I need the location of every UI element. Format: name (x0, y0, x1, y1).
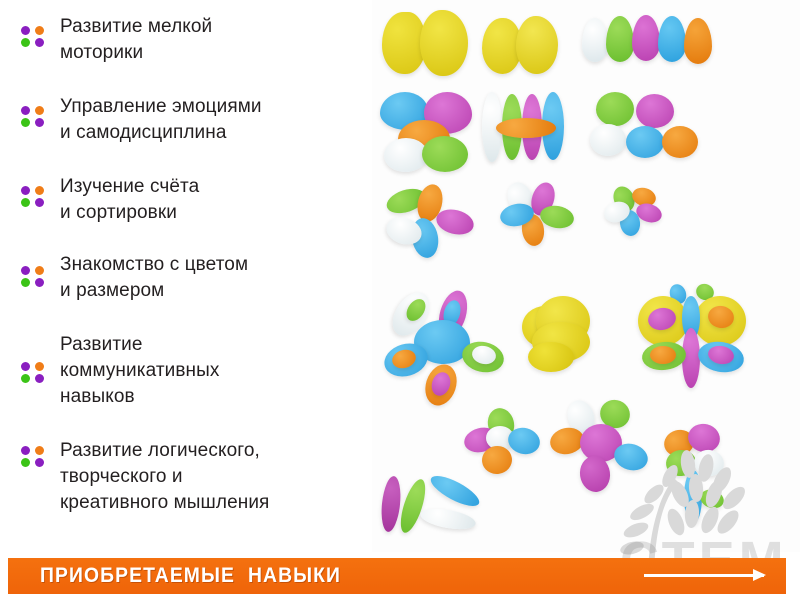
list-item: Развитие коммуникативных навыков (0, 332, 219, 410)
dot-orange-icon (35, 26, 44, 35)
stone-orange (662, 126, 698, 158)
bullet-dots-icon (18, 24, 48, 48)
arrow-right-icon (644, 574, 764, 577)
leaf-white (419, 505, 477, 532)
stone-yellow (420, 10, 468, 76)
dot-purple-icon (35, 374, 44, 383)
dot-orange-icon (35, 266, 44, 275)
stone-white (582, 18, 608, 62)
dot-purple-icon (35, 118, 44, 127)
skill-label: Развитие логического, творческого и креа… (60, 438, 269, 516)
stones-collage-photo (372, 0, 800, 552)
dot-purple-icon (21, 26, 30, 35)
dot-purple-icon (35, 278, 44, 287)
dot-orange-icon (35, 362, 44, 371)
bottom-banner: ПРИОБРЕТАЕМЫЕ НАВЫКИ (8, 558, 786, 594)
skill-label: Развитие мелкой моторики (60, 14, 212, 66)
dot-orange-icon (35, 446, 44, 455)
stone-yellow (516, 16, 558, 74)
stone-yellow (528, 342, 574, 372)
dot-orange-icon (35, 186, 44, 195)
list-item: Развитие логического, творческого и креа… (0, 438, 269, 516)
stone-white (590, 124, 626, 156)
stone-magenta (632, 15, 660, 61)
dot-orange-icon (35, 106, 44, 115)
dot-purple-icon (35, 458, 44, 467)
petal-green (538, 203, 575, 231)
dot-green-icon (21, 458, 30, 467)
slide-root: Развитие мелкой моторики Управление эмоц… (0, 0, 800, 600)
leaf-green-small (698, 487, 726, 512)
leaf-magenta (379, 475, 403, 533)
dot-purple-icon (35, 38, 44, 47)
bullet-dots-icon (18, 444, 48, 468)
skill-label: Изучение счёта и сортировки (60, 174, 199, 226)
dot-green-icon (21, 118, 30, 127)
petal-magenta (434, 206, 477, 238)
list-item: Развитие мелкой моторики (0, 14, 212, 66)
dot-green-icon (21, 38, 30, 47)
bullet-dots-icon (18, 264, 48, 288)
skill-label: Знакомство с цветом и размером (60, 252, 248, 304)
stone-orange-oval (496, 118, 556, 138)
stone-green (606, 16, 634, 62)
list-item: Изучение счёта и сортировки (0, 174, 199, 226)
bullet-dots-icon (18, 184, 48, 208)
leaf-blue (427, 470, 483, 511)
dot-purple-icon (21, 106, 30, 115)
dot-green-icon (21, 374, 30, 383)
dot-green-icon (21, 198, 30, 207)
dot-purple-icon (35, 198, 44, 207)
list-item: Знакомство с цветом и размером (0, 252, 248, 304)
page-title: ПРИОБРЕТАЕМЫЕ НАВЫКИ (40, 564, 341, 588)
leaf-green (396, 477, 430, 536)
dot-purple-icon (21, 266, 30, 275)
stone-orange (684, 18, 712, 64)
dot-purple-icon (21, 446, 30, 455)
skill-label: Управление эмоциями и самодисциплина (60, 94, 262, 146)
list-item: Управление эмоциями и самодисциплина (0, 94, 262, 146)
bullet-dots-icon (18, 104, 48, 128)
dot-purple-icon (21, 362, 30, 371)
dot-green-icon (21, 278, 30, 287)
stone-green (422, 136, 468, 172)
stone-blue (658, 16, 686, 62)
stone-magenta (636, 94, 674, 128)
bullet-dots-icon (18, 360, 48, 384)
dot-purple-icon (21, 186, 30, 195)
stone-green (596, 92, 634, 126)
skill-label: Развитие коммуникативных навыков (60, 332, 219, 410)
stone-blue (626, 126, 664, 158)
skills-list: Развитие мелкой моторики Управление эмоц… (0, 0, 360, 548)
wing-inner-orange (650, 346, 676, 364)
